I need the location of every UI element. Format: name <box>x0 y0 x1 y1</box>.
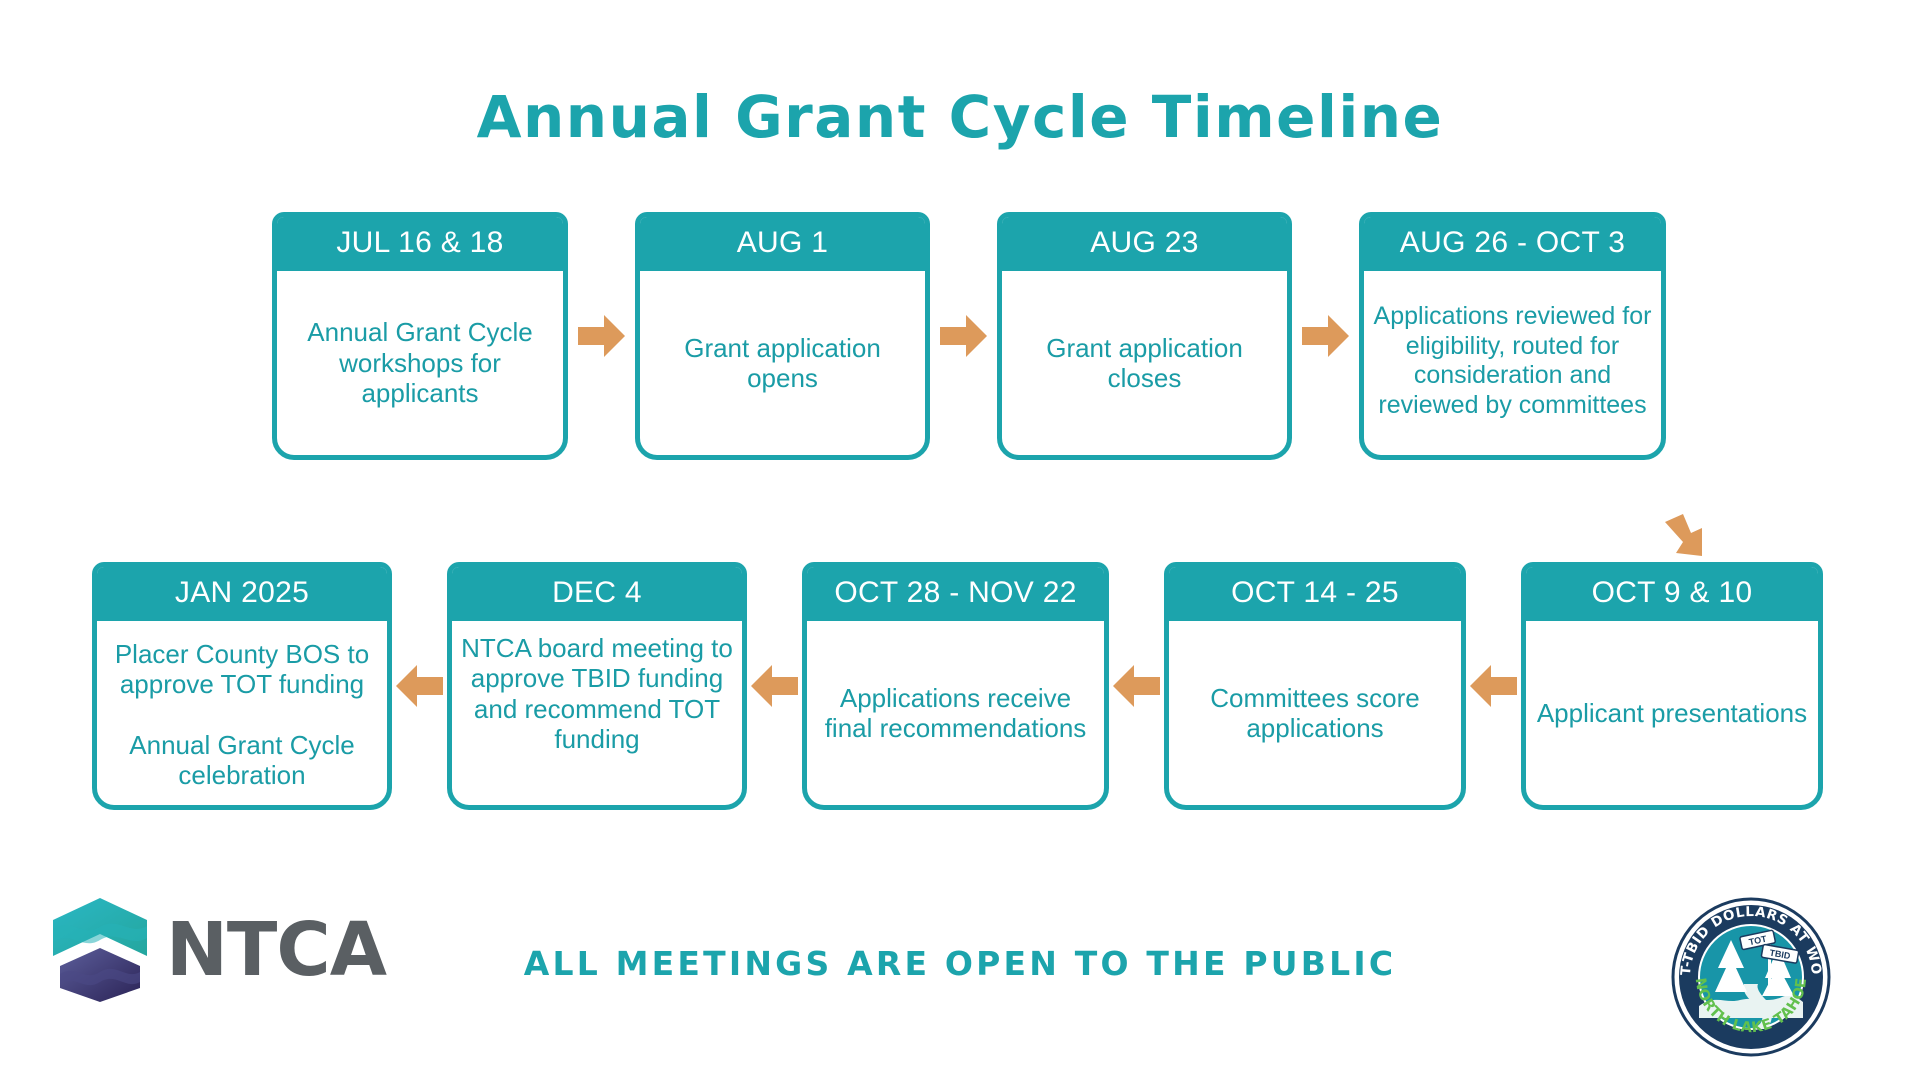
timeline-card-dec-4[interactable]: DEC 4 NTCA board meeting to approve TBID… <box>447 562 747 810</box>
card-body: Applicant presentations <box>1526 621 1818 805</box>
card-body: Applications reviewed for eligibility, r… <box>1364 271 1661 455</box>
card-text: Grant application closes <box>1010 333 1279 394</box>
timeline-card-oct-9-10[interactable]: OCT 9 & 10 Applicant presentations <box>1521 562 1823 810</box>
timeline-card-aug-23[interactable]: AUG 23 Grant application closes <box>997 212 1292 460</box>
arrow-right-2 <box>930 212 997 460</box>
arrow-left-icon <box>1113 664 1161 708</box>
card-date-label: JUL 16 & 18 <box>277 217 563 271</box>
card-body: Placer County BOS to approve TOT funding… <box>97 621 387 805</box>
timeline-card-oct-14-25[interactable]: OCT 14 - 25 Committees score application… <box>1164 562 1466 810</box>
card-date-label: OCT 28 - NOV 22 <box>807 567 1104 621</box>
card-body: Applications receive final recommendatio… <box>807 621 1104 805</box>
arrow-right-icon <box>1302 314 1350 358</box>
card-text: Committees score applications <box>1177 683 1453 744</box>
arrow-left-icon <box>396 664 444 708</box>
arrow-left-icon <box>1470 664 1518 708</box>
card-body: NTCA board meeting to approve TBID fundi… <box>452 621 742 805</box>
card-text: Annual Grant Cycle workshops for applica… <box>285 317 555 408</box>
card-date-label: OCT 9 & 10 <box>1526 567 1818 621</box>
arrow-left-4 <box>1466 562 1521 810</box>
arrow-left-2 <box>747 562 802 810</box>
ntca-wordmark: NTCA <box>166 913 386 987</box>
page-title: Annual Grant Cycle Timeline <box>0 88 1920 146</box>
timeline-card-jan-2025[interactable]: JAN 2025 Placer County BOS to approve TO… <box>92 562 392 810</box>
arrow-left-1 <box>392 562 447 810</box>
timeline-card-oct-28-nov-22[interactable]: OCT 28 - NOV 22 Applications receive fin… <box>802 562 1109 810</box>
arrow-left-3 <box>1109 562 1164 810</box>
timeline-card-aug-1[interactable]: AUG 1 Grant application opens <box>635 212 930 460</box>
timeline-row-1: JUL 16 & 18 Annual Grant Cycle workshops… <box>272 212 1666 460</box>
card-date-label: AUG 26 - OCT 3 <box>1364 217 1661 271</box>
timeline-row-2: JAN 2025 Placer County BOS to approve TO… <box>92 562 1823 810</box>
card-date-label: JAN 2025 <box>97 567 387 621</box>
ntca-mountain-mark-icon <box>50 896 150 1004</box>
card-body: Grant application opens <box>640 271 925 455</box>
card-body: Annual Grant Cycle workshops for applica… <box>277 271 563 455</box>
card-text: Grant application opens <box>648 333 917 394</box>
tot-tbid-dollars-at-work-badge: TOT TBID TOT-TBID DOLLARS AT WORK NORTH … <box>1670 896 1832 1058</box>
card-text: Applications reviewed for eligibility, r… <box>1372 302 1653 420</box>
card-body: Committees score applications <box>1169 621 1461 805</box>
card-date-label: AUG 23 <box>1002 217 1287 271</box>
timeline-card-jul-16-18[interactable]: JUL 16 & 18 Annual Grant Cycle workshops… <box>272 212 568 460</box>
arrow-right-3 <box>1292 212 1359 460</box>
timeline-card-aug-26-oct-3[interactable]: AUG 26 - OCT 3 Applications reviewed for… <box>1359 212 1666 460</box>
card-date-label: OCT 14 - 25 <box>1169 567 1461 621</box>
card-date-label: DEC 4 <box>452 567 742 621</box>
card-text: Applications receive final recommendatio… <box>815 683 1096 744</box>
arrow-right-icon <box>940 314 988 358</box>
card-text: Placer County BOS to approve TOT funding <box>103 639 381 700</box>
arrow-left-icon <box>751 664 799 708</box>
arrow-right-1 <box>568 212 635 460</box>
card-body: Grant application closes <box>1002 271 1287 455</box>
card-text-secondary: Annual Grant Cycle celebration <box>103 730 381 791</box>
card-date-label: AUG 1 <box>640 217 925 271</box>
ntca-logo: NTCA <box>50 896 386 1004</box>
card-text: NTCA board meeting to approve TBID fundi… <box>460 633 734 755</box>
arrow-right-icon <box>578 314 626 358</box>
card-text: Applicant presentations <box>1537 698 1807 728</box>
